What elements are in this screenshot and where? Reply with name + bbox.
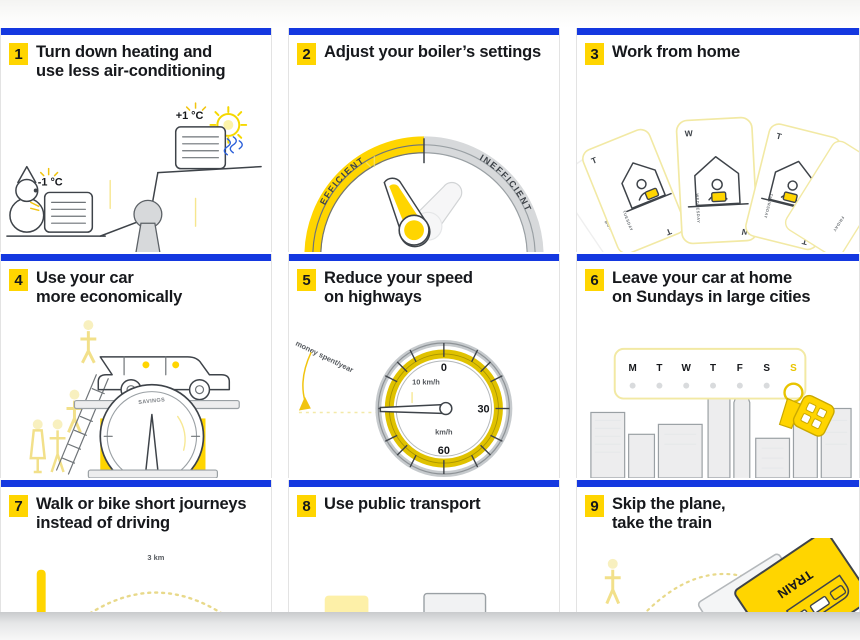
illustration-weekday-strip: M T W T F S S <box>577 312 859 478</box>
panel-number-badge: 9 <box>585 495 604 517</box>
panel-accent-bar <box>289 480 559 487</box>
column-gap <box>560 28 576 252</box>
traveller-ghost-icon <box>605 559 621 604</box>
infographic-root: 1 Turn down heating and use less air-con… <box>0 0 860 640</box>
tip-panel-9[interactable]: 9 Skip the plane, take the train <box>576 480 860 614</box>
tip-panel-1[interactable]: 1 Turn down heating and use less air-con… <box>0 28 272 252</box>
tip-panel-7[interactable]: 7 Walk or bike short journeys instead of… <box>0 480 272 614</box>
illustration-speedometer: money spent/year <box>289 312 559 478</box>
panel-header: 2 Adjust your boiler’s settings <box>289 35 559 65</box>
panel-accent-bar <box>1 254 271 261</box>
panel-title: Turn down heating and use less air-condi… <box>36 43 225 82</box>
day-s1: S <box>763 363 770 374</box>
day-t2: T <box>710 363 716 374</box>
panel-number-badge: 6 <box>585 269 604 291</box>
panel-number-badge: 3 <box>585 43 604 65</box>
panel-title: Use your car more economically <box>36 269 182 308</box>
panel-accent-bar <box>577 480 859 487</box>
panel-accent-bar <box>289 28 559 35</box>
illustration-train-sign: TRAIN <box>577 538 859 614</box>
needle-value-label: 10 km/h <box>412 378 440 387</box>
tips-grid: 1 Turn down heating and use less air-con… <box>0 28 860 612</box>
distance-label: 3 km <box>147 553 164 562</box>
panel-title: Skip the plane, take the train <box>612 495 725 534</box>
panel-header: 3 Work from home <box>577 35 859 65</box>
panel-number-badge: 4 <box>9 269 28 291</box>
tip-panel-2[interactable]: 2 Adjust your boiler’s settings <box>288 28 560 252</box>
panel-accent-bar <box>289 254 559 261</box>
page-top-strip <box>0 0 860 28</box>
illustration-weekday-cards: M MONDAY T T TUESDAY <box>577 86 859 252</box>
spark-left <box>41 169 58 176</box>
day-t1: T <box>656 363 662 374</box>
panel-title: Use public transport <box>324 495 480 514</box>
unit-label: km/h <box>435 427 453 436</box>
panel-title: Reduce your speed on highways <box>324 269 473 308</box>
panel-number-badge: 5 <box>297 269 316 291</box>
tick-60: 60 <box>438 445 450 457</box>
tick-0: 0 <box>441 362 447 374</box>
tip-panel-4[interactable]: 4 Use your car more economically <box>0 254 272 478</box>
column-gap <box>560 254 576 478</box>
panel-header: 4 Use your car more economically <box>1 261 271 308</box>
column-gap <box>272 254 288 478</box>
illustration-three-km-arc: 3 km <box>1 538 271 614</box>
panel-title: Walk or bike short journeys instead of d… <box>36 495 246 534</box>
panel-accent-bar <box>1 480 271 487</box>
tip-panel-6[interactable]: 6 Leave your car at home on Sundays in l… <box>576 254 860 478</box>
panel-header: 6 Leave your car at home on Sundays in l… <box>577 261 859 308</box>
panel-title: Work from home <box>612 43 740 62</box>
panel-title: Adjust your boiler’s settings <box>324 43 541 62</box>
column-gap <box>560 480 576 614</box>
column-gap <box>272 28 288 252</box>
illustration-efficiency-gauge: EFFICIENT INEFFICIENT <box>289 86 559 252</box>
day-w: W <box>682 363 692 374</box>
panel-accent-bar <box>1 28 271 35</box>
tick-30: 30 <box>477 403 489 415</box>
panel-header: 5 Reduce your speed on highways <box>289 261 559 308</box>
panel-number-badge: 2 <box>297 43 316 65</box>
panel-accent-bar <box>577 28 859 35</box>
panel-number-badge: 7 <box>9 495 28 517</box>
panel-number-badge: 1 <box>9 43 28 65</box>
temp-label-left: -1 °C <box>38 176 63 188</box>
column-gap <box>272 480 288 614</box>
air-conditioner-icon <box>176 127 243 169</box>
svg-text:W: W <box>684 128 693 138</box>
tip-panel-8[interactable]: 8 Use public transport <box>288 480 560 614</box>
gauge-label-efficient: EFFICIENT <box>318 155 367 207</box>
day-m: M <box>628 363 636 374</box>
tip-panel-3[interactable]: 3 Work from home M MONDAY T T <box>576 28 860 252</box>
tip-panel-5[interactable]: 5 Reduce your speed on highways money sp… <box>288 254 560 478</box>
temp-label-right: +1 °C <box>176 110 204 122</box>
people-ghost <box>31 320 97 472</box>
day-f: F <box>737 363 743 374</box>
panel-number-badge: 8 <box>297 495 316 517</box>
gauge-label-inefficient: INEFFICIENT <box>478 152 534 213</box>
panel-header: 8 Use public transport <box>289 487 559 517</box>
money-spent-callout: money spent/year <box>294 339 355 375</box>
illustration-seesaw: +1 °C <box>1 86 271 252</box>
panel-header: 7 Walk or bike short journeys instead of… <box>1 487 271 534</box>
day-sunday-highlight: S <box>790 363 797 374</box>
page-bottom-strip <box>0 612 860 640</box>
illustration-bus-stop <box>289 538 559 614</box>
radiator-icon <box>45 192 93 232</box>
panel-accent-bar <box>577 254 859 261</box>
panel-title: Leave your car at home on Sundays in lar… <box>612 269 810 308</box>
panel-header: 1 Turn down heating and use less air-con… <box>1 35 271 82</box>
panel-header: 9 Skip the plane, take the train <box>577 487 859 534</box>
illustration-car-scale: SAVINGS <box>1 312 271 478</box>
